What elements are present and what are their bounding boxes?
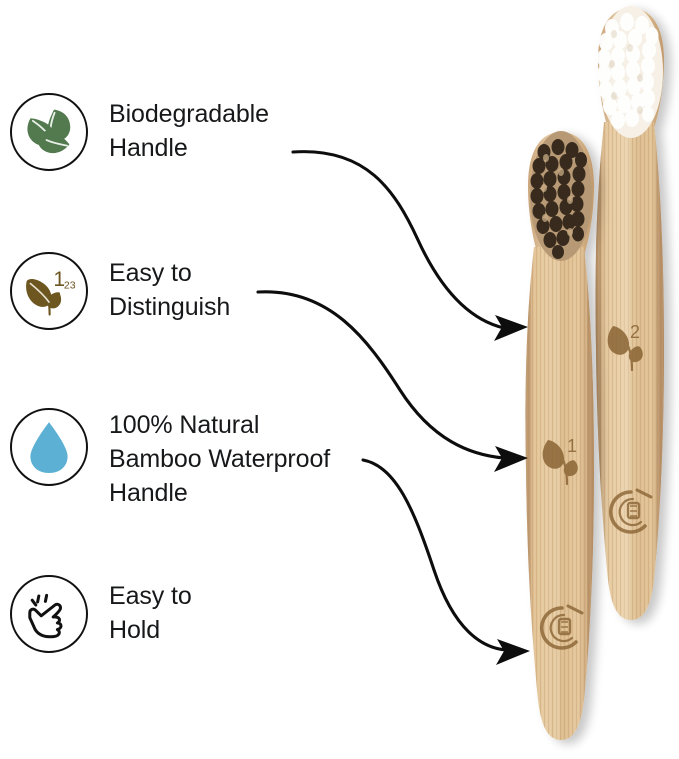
brand-logo-mark <box>542 606 582 648</box>
feature-label: 100% Natural Bamboo Waterproof Handle <box>109 408 330 510</box>
toothbrush-1: 1 <box>524 131 596 750</box>
engraving-leaf-number-2: 2 <box>608 322 643 370</box>
engraving-leaf-number-1: 1 <box>543 436 578 484</box>
feature-label: Easy to Distinguish <box>109 252 230 324</box>
feature-biodegradable-handle: Biodegradable Handle <box>10 93 269 171</box>
distinguish-number-sub: 23 <box>64 280 76 292</box>
tap-hand-icon <box>19 584 79 644</box>
arrow-biodegradable-head <box>494 315 528 341</box>
water-droplet-icon <box>18 416 80 478</box>
feature-badge: 1 23 <box>10 252 88 330</box>
arrow-easy-to-hold-line <box>363 460 506 650</box>
engraving-number: 1 <box>567 436 577 456</box>
arrow-distinguish-head <box>494 446 528 472</box>
bristles-white <box>597 6 663 138</box>
recycle-leaves-icon <box>18 101 80 163</box>
toothbrush-2: 2 <box>594 6 666 630</box>
infographic-canvas: Biodegradable Handle 1 23 Easy to Distin <box>0 0 679 759</box>
numbered-leaf-icon: 1 23 <box>18 260 80 322</box>
arrow-easy-to-hold-head <box>496 639 530 665</box>
engraving-number: 2 <box>630 322 640 342</box>
feature-easy-to-distinguish: 1 23 Easy to Distinguish <box>10 252 230 330</box>
feature-badge <box>10 408 88 486</box>
feature-badge <box>10 93 88 171</box>
feature-label: Biodegradable Handle <box>109 93 269 165</box>
arrow-biodegradable-line <box>293 152 504 328</box>
bristles-charcoal <box>530 131 592 261</box>
feature-badge <box>10 575 88 653</box>
brand-logo-mark <box>611 490 651 532</box>
feature-natural-bamboo-waterproof: 100% Natural Bamboo Waterproof Handle <box>10 408 330 510</box>
feature-easy-to-hold: Easy to Hold <box>10 575 192 653</box>
feature-label: Easy to Hold <box>109 575 192 647</box>
